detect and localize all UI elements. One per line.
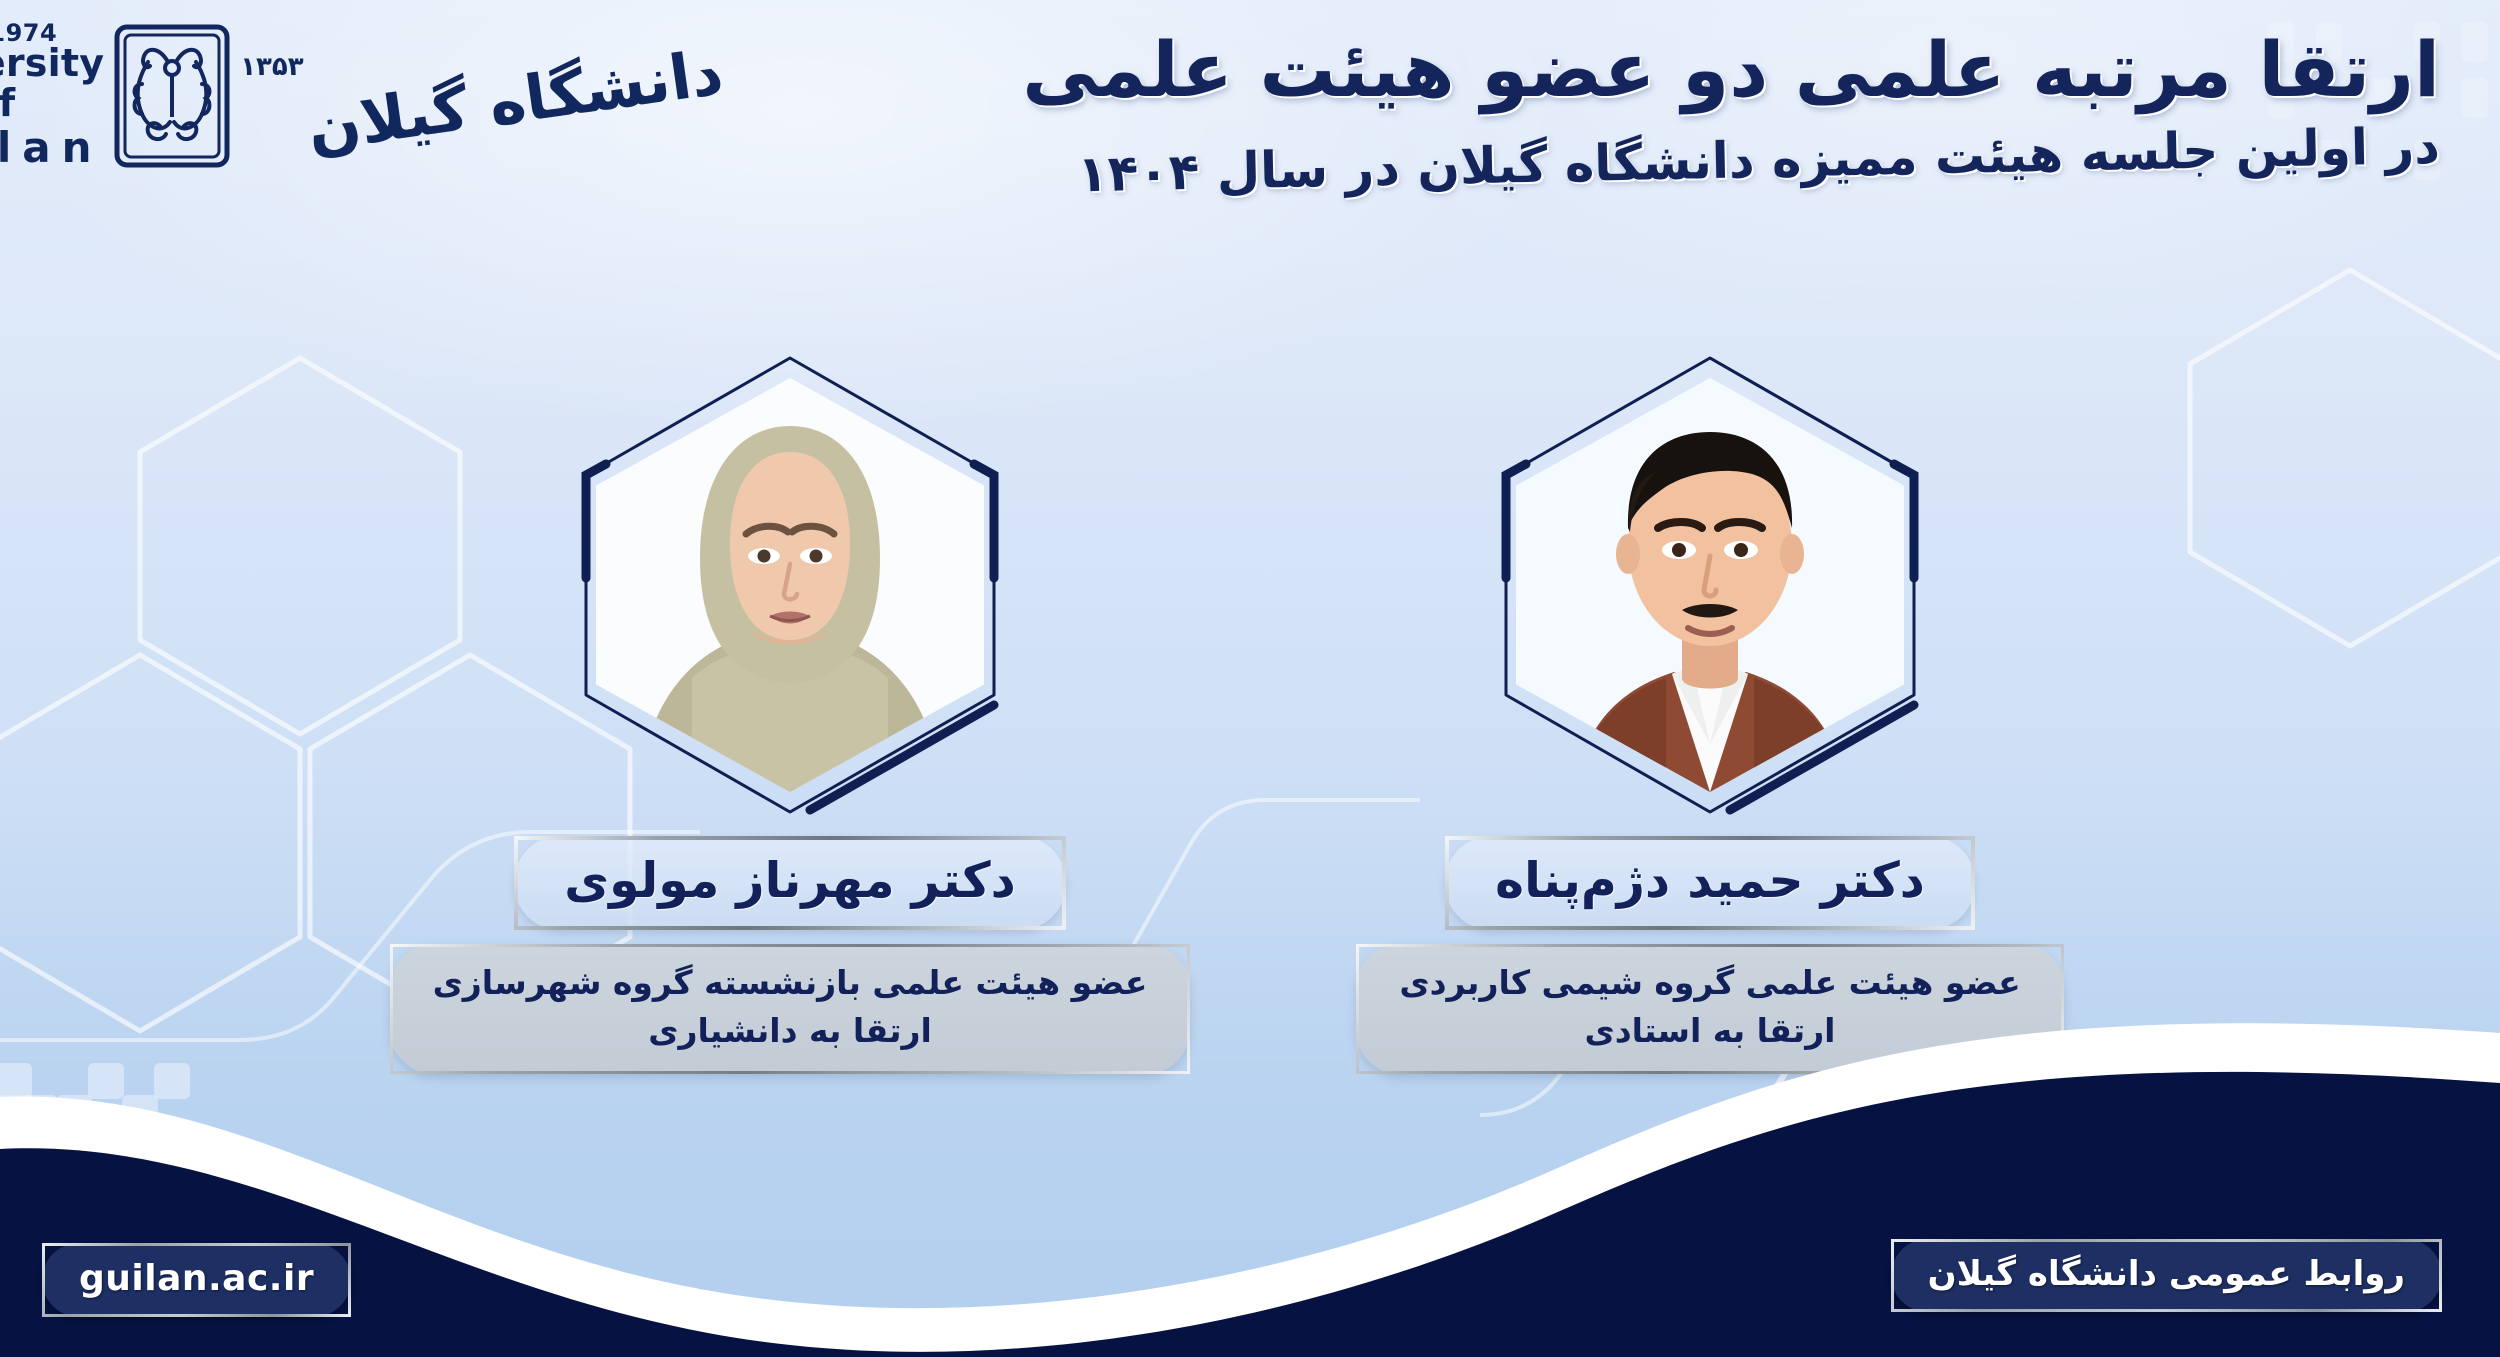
website-pill[interactable]: guilan.ac.ir bbox=[42, 1243, 351, 1317]
grid-square bbox=[2462, 78, 2488, 118]
logo-english-text: 1974 University of Guilan bbox=[0, 21, 104, 170]
photo-hexagon-frame bbox=[570, 350, 1010, 820]
public-relations-pill[interactable]: روابط عمومی دانشگاه گیلان bbox=[1891, 1239, 2442, 1312]
person-name: دکتر حمید دژم‌پناه bbox=[1495, 854, 1925, 908]
public-relations-label: روابط عمومی دانشگاه گیلان bbox=[1928, 1254, 2405, 1294]
person-name-pill: دکتر مهرناز مولوی bbox=[514, 836, 1066, 930]
website-url: guilan.ac.ir bbox=[79, 1258, 314, 1299]
grid-square bbox=[2462, 22, 2488, 62]
person-name-pill: دکتر حمید دژم‌پناه bbox=[1445, 836, 1975, 930]
poster-canvas: دانشگاه گیلان ۱۳۵۳ 1974 University of Gu… bbox=[0, 0, 2500, 1357]
logo-guilan-word: Guilan bbox=[0, 126, 104, 170]
person-name: دکتر مهرناز مولوی bbox=[564, 854, 1016, 908]
university-logo: دانشگاه گیلان ۱۳۵۳ 1974 University of Gu… bbox=[30, 8, 730, 183]
logo-name-persian: دانشگاه گیلان bbox=[303, 35, 727, 166]
headline-block: ارتقا مرتبه علمی دو عضو هیئت علمی در اول… bbox=[1180, 22, 2440, 192]
page-title: ارتقا مرتبه علمی دو عضو هیئت علمی bbox=[1180, 22, 2440, 117]
logo-year-persian: ۱۳۵۳ bbox=[240, 52, 303, 82]
page-subtitle: در اولین جلسه هیئت ممیزه دانشگاه گیلان د… bbox=[1179, 114, 2440, 205]
photo-hexagon-frame bbox=[1490, 350, 1930, 820]
logo-university-word: University of bbox=[0, 44, 104, 124]
